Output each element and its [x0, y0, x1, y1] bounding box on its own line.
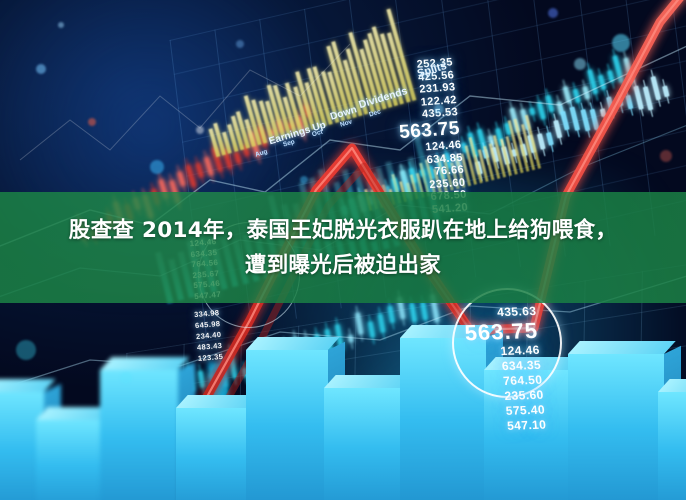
candlestick: [492, 113, 497, 114]
bar-3d: [36, 420, 106, 500]
candlestick-body: [409, 303, 417, 323]
candlestick-body: [643, 86, 654, 111]
headline-line-1: 股查查 2014年，泰国王妃脱光衣服趴在地上给狗喂食，: [69, 218, 617, 243]
candlestick: [604, 86, 609, 87]
candlestick: [513, 49, 518, 50]
candlestick: [477, 59, 482, 60]
candlestick: [613, 83, 618, 84]
candlestick: [631, 79, 636, 80]
candlestick: [539, 102, 544, 103]
bar-3d-face: [246, 350, 328, 500]
candlestick: [576, 93, 581, 94]
candlestick: [87, 150, 92, 151]
candlestick: [145, 323, 150, 324]
candlestick: [154, 130, 159, 131]
price-value: 563.75: [464, 319, 539, 345]
candlestick-body: [590, 109, 600, 131]
candlestick: [468, 62, 473, 63]
bokeh-dot: [88, 118, 96, 126]
stock-banner-image: 252.35425.56231.93122.42435.53563.75124.…: [0, 0, 686, 500]
candlestick: [483, 116, 488, 117]
bar-3d-face: [36, 420, 106, 500]
candlestick-body: [546, 132, 554, 145]
candlestick: [557, 97, 562, 98]
candlestick: [123, 327, 128, 328]
candlestick: [116, 142, 121, 143]
candlestick: [504, 52, 509, 53]
bar-3d-face: [176, 408, 250, 500]
candlestick: [622, 81, 627, 82]
candlestick: [523, 47, 528, 48]
candlestick: [192, 118, 197, 119]
candlestick: [459, 64, 464, 65]
candlestick-body: [580, 109, 590, 132]
bokeh-dot: [574, 58, 586, 70]
candlestick: [173, 124, 178, 125]
candlestick: [520, 106, 525, 107]
candlestick: [613, 23, 618, 24]
candlestick-body: [599, 108, 606, 117]
candlestick: [659, 72, 664, 73]
candlestick: [486, 57, 491, 58]
candlestick-body: [606, 96, 614, 112]
candlestick: [548, 99, 553, 100]
candlestick: [585, 90, 590, 91]
bar-3d-top: [246, 337, 340, 350]
candlestick: [604, 25, 609, 26]
bokeh-dot: [300, 176, 308, 184]
candlestick: [474, 118, 479, 119]
candlestick: [465, 120, 470, 121]
page-title: 股查查 2014年，泰国王妃脱光衣服趴在地上给狗喂食， 遭到曝光后被迫出家: [13, 213, 673, 283]
candlestick-body: [663, 86, 670, 97]
candlestick: [166, 319, 171, 320]
bokeh-dot: [120, 372, 132, 384]
candlestick: [188, 315, 193, 316]
price-value: 547.10: [472, 418, 547, 436]
candlestick-body: [617, 99, 623, 106]
price-ladder-low-left: 334.98645.98234.40483.43123.35: [194, 307, 224, 364]
candlestick-body: [204, 156, 214, 176]
headline-band: 股查查 2014年，泰国王妃脱光衣服趴在地上给狗喂食， 遭到曝光后被迫出家: [0, 192, 686, 303]
candlestick: [529, 104, 534, 105]
candlestick: [594, 88, 599, 89]
candlestick: [532, 45, 537, 46]
candlestick-body: [177, 171, 186, 187]
candlestick-body: [420, 302, 428, 320]
headline-line-2: 遭到曝光后被迫出家: [13, 248, 673, 283]
candlestick: [96, 147, 101, 148]
bar-3d: [100, 370, 178, 500]
candlestick: [177, 317, 182, 318]
bokeh-dot: [548, 8, 558, 18]
candlestick-body: [626, 95, 634, 109]
candlestick-body: [387, 305, 395, 323]
candlestick-body: [650, 76, 661, 101]
bar-3d: [176, 408, 250, 500]
candlestick: [77, 153, 82, 154]
candlestick: [541, 42, 546, 43]
price-ladder-lower: 435.63563.75124.46634.35764.50235.60575.…: [462, 304, 547, 435]
candlestick-body: [553, 120, 562, 138]
bokeh-dot: [58, 22, 64, 28]
candlestick-body: [569, 106, 580, 131]
candlestick: [586, 30, 591, 31]
bokeh-dot: [36, 64, 46, 74]
candlestick-body: [195, 163, 204, 178]
price-value: 123.35: [197, 351, 223, 364]
candlestick: [550, 40, 555, 41]
bokeh-dot: [16, 340, 36, 360]
bar-3d-top: [100, 357, 190, 370]
candlestick: [144, 133, 149, 134]
bar-3d-face: [324, 388, 404, 500]
bokeh-dot: [196, 126, 204, 134]
bar-3d-face: [100, 370, 178, 500]
candlestick: [125, 139, 130, 140]
bar-3d: [324, 388, 404, 500]
candlestick: [502, 111, 507, 112]
bokeh-dot: [612, 34, 630, 52]
candlestick-body: [233, 151, 241, 164]
bokeh-dot: [660, 150, 672, 162]
candlestick-body: [633, 86, 644, 110]
candlestick: [559, 37, 564, 38]
bar-3d-face: [658, 392, 686, 500]
bokeh-dot: [434, 104, 444, 114]
candlestick: [650, 74, 655, 75]
candlestick: [511, 109, 516, 110]
bar-3d-face: [568, 354, 664, 500]
bar-3d: [658, 392, 686, 500]
candlestick: [58, 159, 63, 160]
bar-chart-3d-foreground: [0, 330, 686, 500]
candlestick: [495, 54, 500, 55]
bar-3d: [246, 350, 328, 500]
bar-3d: [568, 354, 664, 500]
candlestick: [568, 35, 573, 36]
bar-3d-top: [568, 341, 676, 354]
candlestick-body: [607, 70, 615, 83]
candlestick: [577, 32, 582, 33]
bokeh-dot: [236, 40, 244, 48]
candlestick: [155, 321, 160, 322]
candlestick: [595, 28, 600, 29]
candlestick-body: [561, 111, 570, 130]
candlestick: [68, 156, 73, 157]
candlestick: [106, 145, 111, 146]
candlestick: [641, 76, 646, 77]
candlestick: [135, 136, 140, 137]
candlestick: [567, 95, 572, 96]
candlestick: [134, 325, 139, 326]
candlestick: [163, 127, 168, 128]
bokeh-dot: [150, 160, 164, 174]
candlestick: [182, 121, 187, 122]
